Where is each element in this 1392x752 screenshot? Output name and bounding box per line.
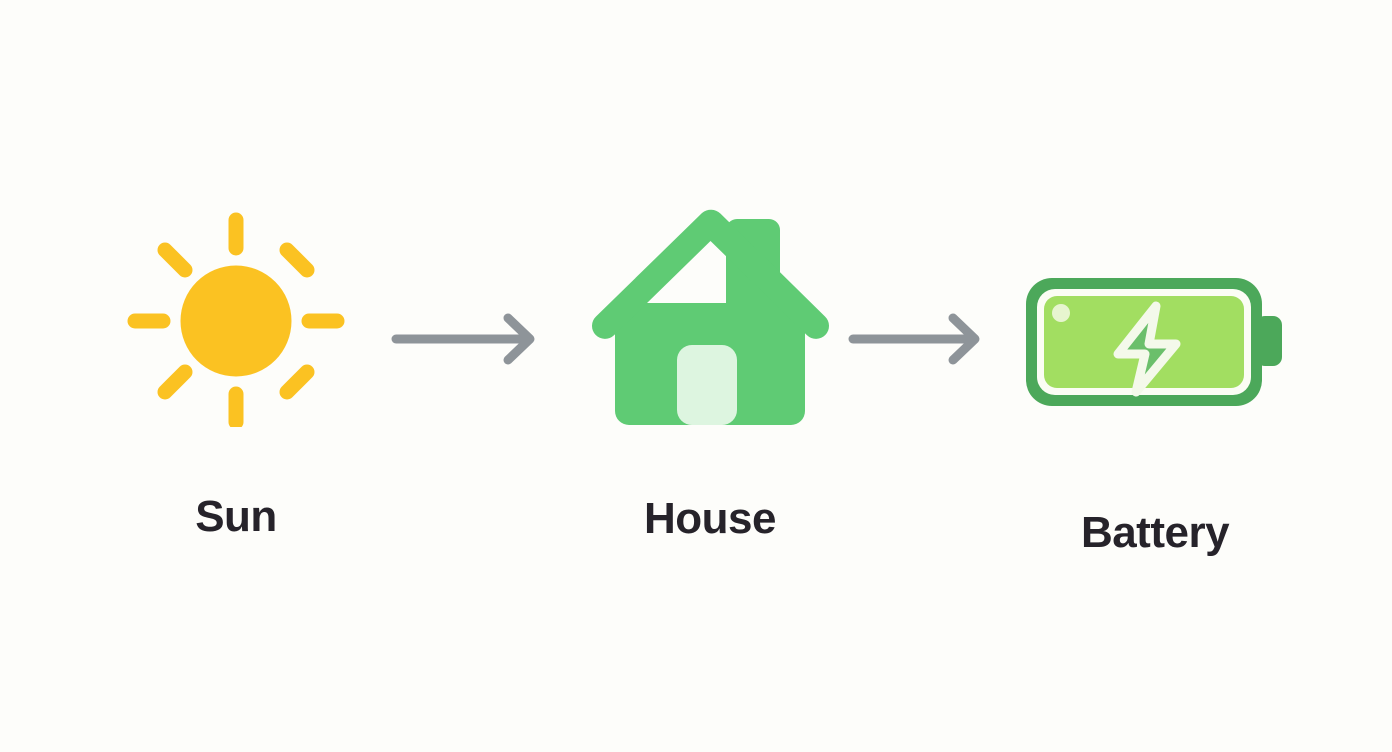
- arrow-house-to-battery: [845, 308, 993, 375]
- arrow-sun-to-house: [388, 308, 548, 375]
- house-door: [677, 345, 737, 425]
- node-label-house: House: [644, 497, 776, 541]
- diagram-canvas: Sun House: [0, 0, 1392, 752]
- node-label-sun: Sun: [195, 495, 277, 539]
- battery-icon: [1010, 262, 1300, 422]
- sun-icon: [120, 205, 352, 427]
- diagram-node-battery[interactable]: Battery: [1010, 262, 1300, 555]
- node-label-battery: Battery: [1081, 511, 1229, 555]
- battery-highlight-dot: [1052, 304, 1070, 322]
- diagram-node-house[interactable]: House: [585, 195, 835, 541]
- house-icon: [585, 195, 835, 440]
- diagram-node-sun[interactable]: Sun: [120, 205, 352, 539]
